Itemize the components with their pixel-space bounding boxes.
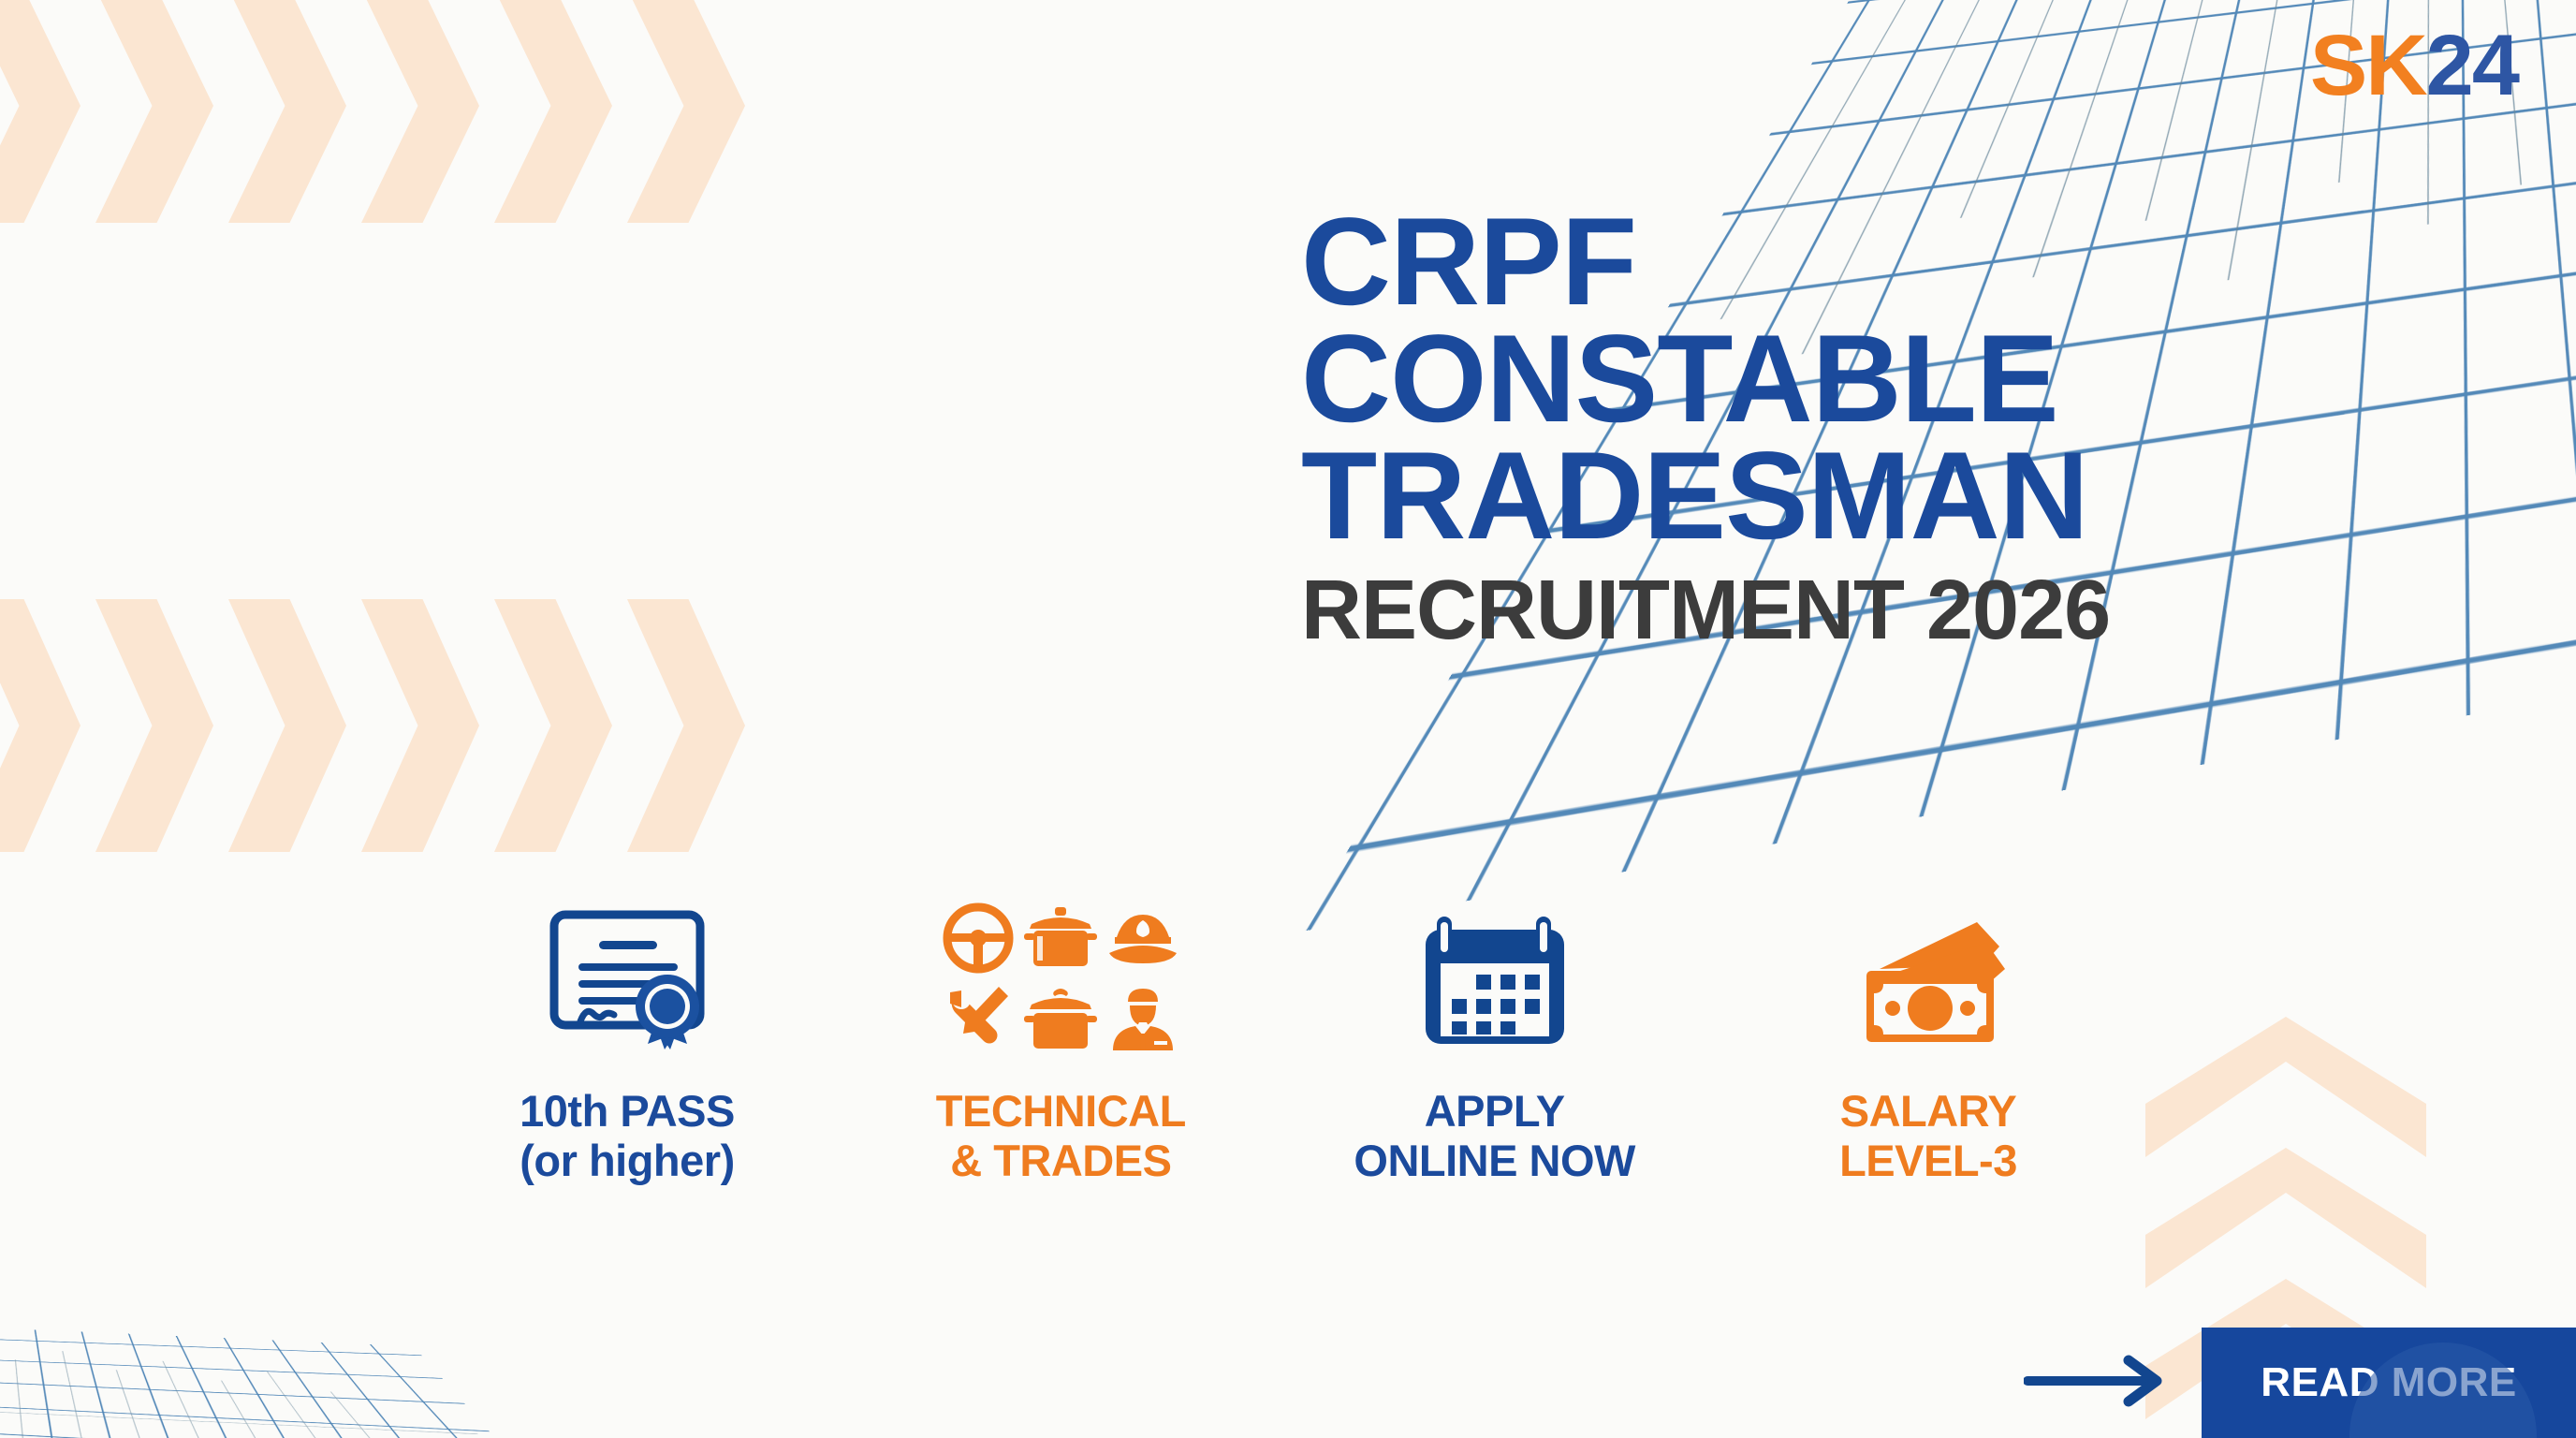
steering-wheel-icon <box>943 902 1014 974</box>
police-cap-icon <box>1105 909 1180 967</box>
calendar-icon <box>1420 885 1570 1072</box>
certificate-icon <box>547 885 708 1072</box>
headline-block: CRPF CONSTABLE TRADESMAN RECRUITMENT 202… <box>1301 204 2424 653</box>
officer-person-icon <box>1107 983 1178 1054</box>
page-title-line-3: TRADESMAN <box>1301 438 2424 555</box>
logo-text-sk: SK <box>2310 18 2426 113</box>
trades-icons <box>942 885 1179 1072</box>
arrow-right-icon <box>2024 1355 2173 1412</box>
chevron-shape <box>361 599 479 852</box>
wrench-screwdriver-icon <box>943 983 1014 1054</box>
chevron-shape <box>95 0 213 223</box>
feature-item-salary: SALARY LEVEL-3 <box>1741 885 2115 1185</box>
chevron-shape <box>494 0 612 223</box>
mesh-grid-bottom-left <box>0 1323 738 1438</box>
chevron-shape <box>0 0 80 223</box>
page-subtitle: RECRUITMENT 2026 <box>1301 568 2424 653</box>
feature-row: 10th PASS (or higher) <box>440 885 2115 1185</box>
poster-canvas: SK24 CRPF CONSTABLE TRADESMAN RECRUITMEN… <box>0 0 2576 1438</box>
chevron-shape <box>627 0 745 223</box>
feature-item-qualification: 10th PASS (or higher) <box>440 885 814 1185</box>
logo-text-24: 24 <box>2426 18 2518 113</box>
cooking-pot-lid-icon <box>1024 905 1097 971</box>
page-title-line-2: CONSTABLE <box>1301 321 2424 438</box>
cooking-pot-icon <box>1024 986 1097 1051</box>
feature-label-trades: TECHNICAL & TRADES <box>936 1087 1186 1185</box>
feature-item-trades: TECHNICAL & TRADES <box>873 885 1248 1185</box>
chevron-shape <box>228 0 346 223</box>
feature-label-qualification: 10th PASS (or higher) <box>520 1087 735 1185</box>
brand-logo: SK24 <box>2310 17 2518 115</box>
page-title-line-1: CRPF <box>1301 204 2424 321</box>
chevron-band-top-left <box>0 0 730 223</box>
chevron-shape <box>228 599 346 852</box>
chevron-shape <box>95 599 213 852</box>
chevron-shape <box>0 599 80 852</box>
chevron-shape <box>627 599 745 852</box>
money-cash-icon <box>1846 885 2011 1072</box>
chevron-shape <box>494 599 612 852</box>
cta-row: READ MORE <box>2024 1328 2576 1438</box>
chevron-up-shape <box>2145 1017 2426 1157</box>
feature-item-apply: APPLY ONLINE NOW <box>1308 885 1682 1185</box>
chevron-band-mid-left <box>0 599 674 852</box>
chevron-shape <box>361 0 479 223</box>
feature-label-apply: APPLY ONLINE NOW <box>1354 1087 1634 1185</box>
feature-label-salary: SALARY LEVEL-3 <box>1839 1087 2017 1185</box>
chevron-up-shape <box>2145 1148 2426 1288</box>
